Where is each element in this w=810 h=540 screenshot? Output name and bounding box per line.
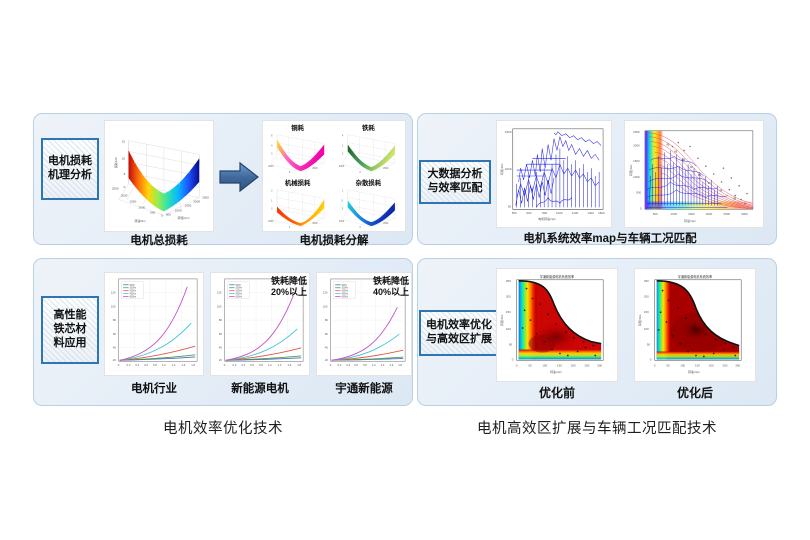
svg-text:1000: 1000 [505,167,512,171]
svg-text:杂散损耗: 杂散损耗 [356,178,382,187]
svg-text:0.6: 0.6 [250,363,254,367]
svg-text:0.6: 0.6 [354,363,358,367]
svg-text:2000: 2000 [312,223,318,225]
caption-high-efficiency-expansion-tech: 电机高效区扩展与车辆工况匹配技术 [417,417,777,438]
svg-text:2500: 2500 [112,187,119,191]
svg-text:800Hz: 800Hz [130,297,137,299]
svg-text:100: 100 [111,304,116,308]
svg-text:200: 200 [571,363,576,367]
legend-iron-loss: 50Hz100Hz200Hz 400Hz800Hz [228,282,250,299]
annotation-line: 40%以上 [373,287,409,298]
svg-text:60: 60 [325,332,329,336]
svg-text:100: 100 [680,363,685,367]
svg-text:250: 250 [585,363,590,367]
svg-text:120: 120 [323,291,328,295]
svg-text:1000: 1000 [633,175,640,179]
chip-line: 电机损耗 [48,155,92,169]
svg-text:100Hz: 100Hz [341,288,348,290]
svg-text:200: 200 [506,294,511,298]
svg-text:转矩/Nm: 转矩/Nm [499,314,504,326]
chip-core-material: 高性能 铁芯材 料应用 [41,296,99,364]
svg-text:50Hz: 50Hz [130,285,136,287]
svg-text:500: 500 [653,212,658,216]
figure-total-loss-surface: 15 10 5 0 2500 2000 1500 1000 500 0 500 … [104,120,214,232]
svg-text:800Hz: 800Hz [236,297,243,299]
efficiency-map-after-plot: 宇通新能源电机系统效率 250200150 10050 [635,269,755,381]
svg-text:转矩/Nm: 转矩/Nm [628,164,633,176]
svg-text:50: 50 [509,343,513,347]
svg-text:50: 50 [508,204,512,208]
svg-text:60: 60 [219,332,223,336]
chip-line: 铁芯材 [54,323,87,337]
svg-text:1000: 1000 [670,212,677,216]
svg-text:200Hz: 200Hz [236,291,243,293]
svg-text:转速/rpm: 转速/rpm [550,369,562,374]
svg-text:500: 500 [166,212,171,216]
svg-text:20: 20 [325,358,329,362]
svg-text:150: 150 [644,310,649,314]
svg-text:800Hz: 800Hz [341,297,348,299]
svg-text:2000: 2000 [193,200,200,204]
figure-loss-decomposition: 铜耗 840 200002000 铁耗 [262,120,406,232]
figure-label-nev: 新能源电机 [210,380,310,396]
chip-efficiency-optimization: 电机效率优化 与高效区扩展 [419,310,499,356]
svg-text:2000: 2000 [706,212,713,216]
svg-text:2000: 2000 [121,194,128,198]
svg-text:150: 150 [506,310,511,314]
figure-label-before: 优化前 [496,384,618,401]
svg-text:200: 200 [644,294,649,298]
figure-label-yutong: 宇通新能源 [314,380,414,396]
caption-efficiency-optimization-tech: 电机效率优化技术 [33,417,413,438]
annotation-iron-loss-reduction-20: 铁耗降低 20%以上 [271,276,307,298]
svg-text:1000: 1000 [138,205,145,209]
svg-text:1000: 1000 [556,211,563,215]
svg-text:转速/rpm: 转速/rpm [688,369,700,374]
svg-text:200: 200 [709,363,714,367]
svg-text:1200: 1200 [572,211,579,215]
svg-text:2000: 2000 [268,221,274,223]
svg-text:1.4: 1.4 [172,363,176,367]
svg-text:400Hz: 400Hz [341,294,348,296]
svg-text:1500: 1500 [505,130,512,134]
svg-text:铁耗: 铁耗 [362,123,375,132]
svg-text:电机转速/rpm: 电机转速/rpm [538,216,556,221]
svg-text:100: 100 [323,304,328,308]
svg-text:15: 15 [122,140,126,144]
svg-text:铜耗: 铜耗 [291,123,304,132]
svg-text:0.6: 0.6 [144,363,148,367]
svg-text:0.2: 0.2 [233,363,237,367]
svg-text:2000: 2000 [339,166,345,168]
figure-iron-loss-nev: 12010080 604020 00.20.4 0.60.81.2 1.41.6… [210,272,310,376]
svg-text:40: 40 [219,346,223,350]
svg-text:500: 500 [636,191,641,195]
svg-text:100Hz: 100Hz [130,288,137,290]
svg-text:200Hz: 200Hz [130,291,137,293]
svg-text:2000: 2000 [268,166,274,168]
svg-text:0.8: 0.8 [259,363,263,367]
figure-label-total-loss: 电机总损耗 [104,232,214,248]
svg-text:150: 150 [557,363,562,367]
svg-text:宇通新能源电机系统效率: 宇通新能源电机系统效率 [678,274,712,279]
svg-text:1.6: 1.6 [181,363,185,367]
svg-text:2500: 2500 [202,196,209,200]
system-efficiency-map-plot: 808588 909293 9495 2500 2000 1500 1000 5… [625,121,763,227]
loss-decomposition-plot: 铜耗 840 200002000 铁耗 [263,121,405,231]
svg-text:80: 80 [325,318,329,322]
svg-text:0.2: 0.2 [127,363,131,367]
svg-text:0.4: 0.4 [135,363,139,367]
svg-text:200Hz: 200Hz [341,291,348,293]
svg-text:1.6: 1.6 [389,363,393,367]
svg-text:3000: 3000 [741,212,748,216]
legend-iron-loss: 50Hz100Hz200Hz 400Hz800Hz [122,282,144,299]
svg-text:50: 50 [667,363,671,367]
svg-text:40: 40 [113,346,117,350]
figure-iron-loss-yutong: 12010080 604020 00.20.4 0.60.81.2 1.41.6… [316,272,412,376]
efficiency-map-before-plot: 宇通新能源电机系统效率 250200150 10050 [497,269,617,381]
figure-efficiency-map-before: 宇通新能源电机系统效率 250200150 10050 [496,268,618,382]
svg-text:0.2: 0.2 [338,363,342,367]
annotation-line: 20%以上 [271,287,307,298]
svg-text:0.8: 0.8 [363,363,367,367]
svg-text:1.8: 1.8 [398,363,402,367]
svg-text:400Hz: 400Hz [130,294,137,296]
svg-text:转矩/Nm: 转矩/Nm [637,314,642,326]
svg-text:500: 500 [150,210,155,214]
figure-label-after: 优化后 [634,384,756,401]
total-loss-surface-plot: 15 10 5 0 2500 2000 1500 1000 500 0 500 … [105,121,213,231]
svg-text:0.4: 0.4 [346,363,350,367]
svg-text:1500: 1500 [130,200,137,204]
chip-line: 高性能 [54,309,87,323]
svg-text:600: 600 [527,211,532,215]
chip-line: 与高效区扩展 [426,333,492,347]
svg-text:2500: 2500 [633,130,640,134]
svg-text:1.4: 1.4 [381,363,385,367]
annotation-line: 铁耗降低 [271,276,307,287]
figure-label-industry: 电机行业 [104,380,204,396]
chip-line: 电机效率优化 [426,319,492,333]
svg-text:损耗/kW: 损耗/kW [113,157,118,168]
svg-text:100Hz: 100Hz [236,288,243,290]
svg-text:50Hz: 50Hz [341,285,347,287]
chip-line: 机理分析 [48,169,92,183]
svg-text:转速/Nm: 转速/Nm [134,218,146,223]
svg-text:2000: 2000 [383,168,389,170]
svg-text:100: 100 [217,304,222,308]
svg-text:1.8: 1.8 [191,363,195,367]
chip-line: 与效率匹配 [428,182,483,196]
svg-text:800: 800 [542,211,547,215]
chip-bigdata-analysis: 大数据分析 与效率匹配 [419,160,491,204]
svg-text:500: 500 [512,211,517,215]
svg-text:2000: 2000 [312,168,318,170]
svg-text:20: 20 [113,358,117,362]
svg-text:1.6: 1.6 [287,363,291,367]
svg-text:120: 120 [217,291,222,295]
svg-text:250: 250 [506,279,511,283]
svg-text:转矩/Nm: 转矩/Nm [499,163,504,175]
svg-text:300: 300 [597,363,602,367]
svg-text:120: 120 [111,291,116,295]
svg-text:0.8: 0.8 [153,363,157,367]
iron-loss-industry-plot: 12010080 604020 00.20.4 0.60.81.2 1.41.6… [105,273,203,375]
svg-text:100: 100 [506,327,511,331]
svg-text:1500: 1500 [688,212,695,216]
right-arrow-icon [218,160,260,194]
svg-text:60: 60 [113,332,117,336]
svg-text:1600: 1600 [598,211,605,215]
svg-text:2000: 2000 [633,144,640,148]
svg-text:100: 100 [644,327,649,331]
svg-text:40: 40 [325,345,329,349]
svg-text:80: 80 [219,318,223,322]
figure-label-loss-decomposition: 电机损耗分解 [262,232,406,248]
figure-operating-point-scatter: 1500 1000 50 500 600 800 1000 1200 1400 … [496,120,612,228]
svg-text:50: 50 [529,363,533,367]
figure-iron-loss-industry: 12010080 604020 00.20.4 0.60.81.2 1.41.6… [104,272,204,376]
figure-efficiency-map-after: 宇通新能源电机系统效率 250200150 10050 [634,268,756,382]
chip-loss-mechanism: 电机损耗 机理分析 [41,138,99,200]
svg-text:2000: 2000 [383,223,389,225]
svg-text:150: 150 [695,363,700,367]
svg-text:20: 20 [219,358,223,362]
slide-canvas: 电机损耗 机理分析 [0,0,810,540]
svg-text:1400: 1400 [587,211,594,215]
svg-text:机械损耗: 机械损耗 [285,178,311,187]
svg-text:宇通新能源电机系统效率: 宇通新能源电机系统效率 [540,274,574,279]
svg-text:2000: 2000 [339,221,345,223]
svg-text:转速/rpm: 转速/rpm [684,218,696,223]
svg-text:2500: 2500 [723,212,730,216]
svg-text:400Hz: 400Hz [236,294,243,296]
svg-text:100: 100 [542,363,547,367]
svg-text:1.2: 1.2 [162,363,166,367]
legend-iron-loss: 50Hz100Hz200Hz 400Hz800Hz [334,282,356,299]
svg-text:转矩/rpm: 转矩/rpm [178,215,190,220]
svg-text:1500: 1500 [633,159,640,163]
svg-text:80: 80 [113,318,117,322]
svg-text:300: 300 [735,363,740,367]
operating-point-scatter-plot: 1500 1000 50 500 600 800 1000 1200 1400 … [497,121,611,227]
chip-line: 大数据分析 [428,168,483,182]
figure-system-efficiency-map: 808588 909293 9495 2500 2000 1500 1000 5… [624,120,764,228]
svg-text:1500: 1500 [185,203,192,207]
svg-text:1.2: 1.2 [372,363,376,367]
svg-text:1.2: 1.2 [268,363,272,367]
svg-text:0.4: 0.4 [241,363,245,367]
annotation-line: 铁耗降低 [373,276,409,287]
svg-text:1000: 1000 [175,208,182,212]
svg-text:10: 10 [122,156,126,160]
svg-text:1.4: 1.4 [278,363,282,367]
annotation-iron-loss-reduction-40: 铁耗降低 40%以上 [373,276,409,298]
chip-line: 料应用 [54,337,87,351]
caption-system-efficiency-match: 电机系统效率map与车辆工况匹配 [450,230,770,246]
svg-text:250: 250 [723,363,728,367]
svg-text:250: 250 [644,279,649,283]
svg-text:50: 50 [647,343,651,347]
svg-text:1.8: 1.8 [297,363,301,367]
svg-text:50Hz: 50Hz [236,285,242,287]
